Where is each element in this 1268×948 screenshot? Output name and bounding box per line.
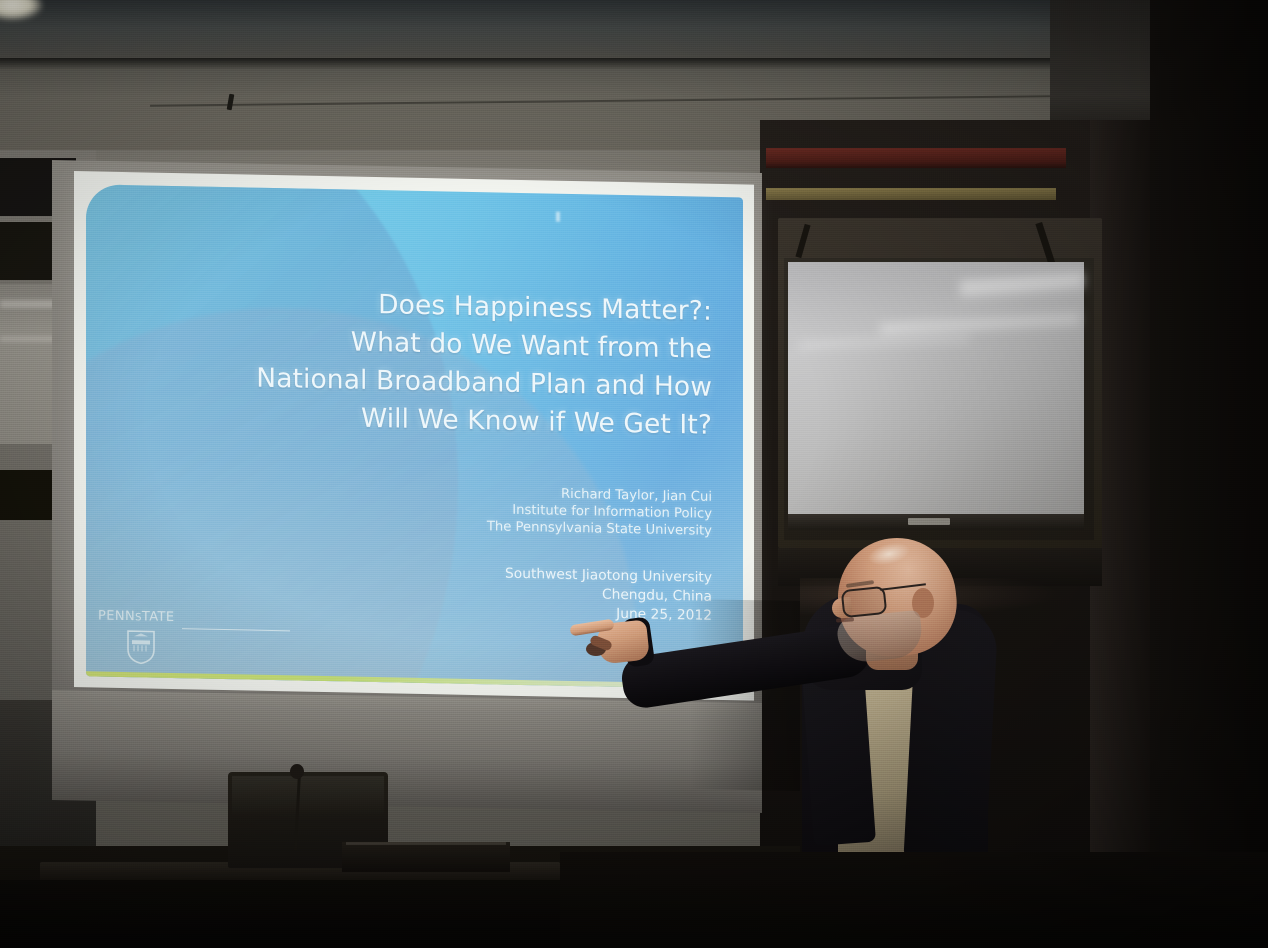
logo-rule — [182, 628, 290, 631]
lectern-shelf — [342, 842, 510, 872]
microphone-icon[interactable] — [290, 764, 304, 779]
wood-right-edge — [1150, 0, 1268, 948]
wordmark-tate: TATE — [142, 609, 175, 625]
whiteboard-surface[interactable] — [788, 262, 1084, 514]
wordmark-s: S — [135, 612, 142, 623]
slide-title: Does Happiness Matter?: What do We Want … — [146, 281, 712, 444]
left-whiteboard-glare-2 — [0, 336, 58, 342]
lectern-shelf-edge — [346, 842, 506, 845]
slide-hotspot — [556, 212, 560, 222]
wood-trim-gold — [766, 188, 1056, 200]
whiteboard-tray-label — [908, 518, 950, 525]
penn-state-wordmark: PENNSTATE — [98, 608, 174, 625]
soffit-shadow — [0, 58, 1060, 70]
podium-monitor-glow — [232, 776, 384, 816]
front-table — [560, 852, 1268, 948]
wordmark-penn: PENN — [98, 608, 135, 624]
wood-trim-red — [766, 148, 1066, 168]
penn-state-shield-icon — [126, 629, 156, 666]
lecture-hall-photo: Does Happiness Matter?: What do We Want … — [0, 0, 1268, 948]
